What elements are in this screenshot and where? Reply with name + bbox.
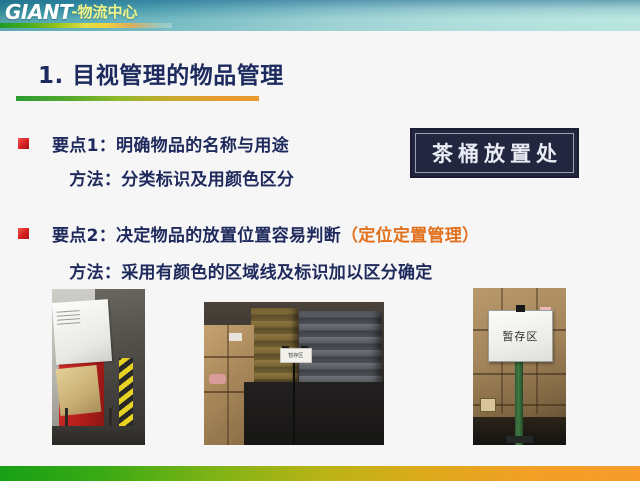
photo1-paper-text-lines [57,310,80,325]
footer-gradient-bar [0,466,640,481]
photo3-sign-clip [516,305,525,311]
photo1-floor [52,426,145,445]
photo2-zone-sign: 暂存区 [280,348,312,364]
photo1-paper-sign [52,300,112,366]
photo-temporary-storage-sign: 暂存区 [473,288,566,445]
point-2-method: 方法：采用有颜色的区域线及标识加以区分确定 [52,258,433,283]
photo2-carton-label [229,333,242,340]
brand-logo-subtitle: -物流中心 [71,1,137,22]
photo2-sign-pole [293,361,295,445]
photo3-zone-sign-text: 暂存区 [488,310,553,362]
photo2-pink-item [209,374,225,384]
brand-logo[interactable]: GIANT -物流中心 [5,0,137,23]
header-banner: GIANT -物流中心 [0,0,640,31]
sign-plaque-tea-bucket: 茶桶放置处 [410,128,579,178]
title-underline-rule [16,96,259,101]
brand-logo-giant: GIANT [5,0,72,24]
photo2-floor [244,382,384,445]
photo2-pallet-stack-left [251,308,298,382]
photo2-carton-seam-3 [227,325,229,445]
point-2-heading: 要点2：决定物品的放置位置容易判断（定位定置管理） [52,221,479,246]
photo-warehouse-aisle: 暂存区 [204,302,384,445]
photo3-carton-label [480,398,497,412]
photo-fire-cart [52,289,145,445]
photo3-green-sign-pole [515,357,523,445]
photo3-pole-base [506,436,532,444]
sign-plaque-text: 茶桶放置处 [427,138,562,168]
point-1-heading: 要点1：明确物品的名称与用途 [52,131,289,156]
sign-plaque-inner-border: 茶桶放置处 [415,133,574,173]
bullet-marker-point-1 [18,138,29,149]
point-1-method: 方法：分类标识及用颜色区分 [52,165,294,190]
bullet-marker-point-2 [18,228,29,239]
point-2-heading-text: 要点2：决定物品的放置位置容易判断 [52,226,341,246]
point-2-accent-text: （定位定置管理） [341,226,479,246]
photo2-zone-sign-text: 暂存区 [281,349,311,363]
brand-logo-rule-fade [0,23,172,28]
page-title: 1. 目视管理的物品管理 [38,56,284,90]
